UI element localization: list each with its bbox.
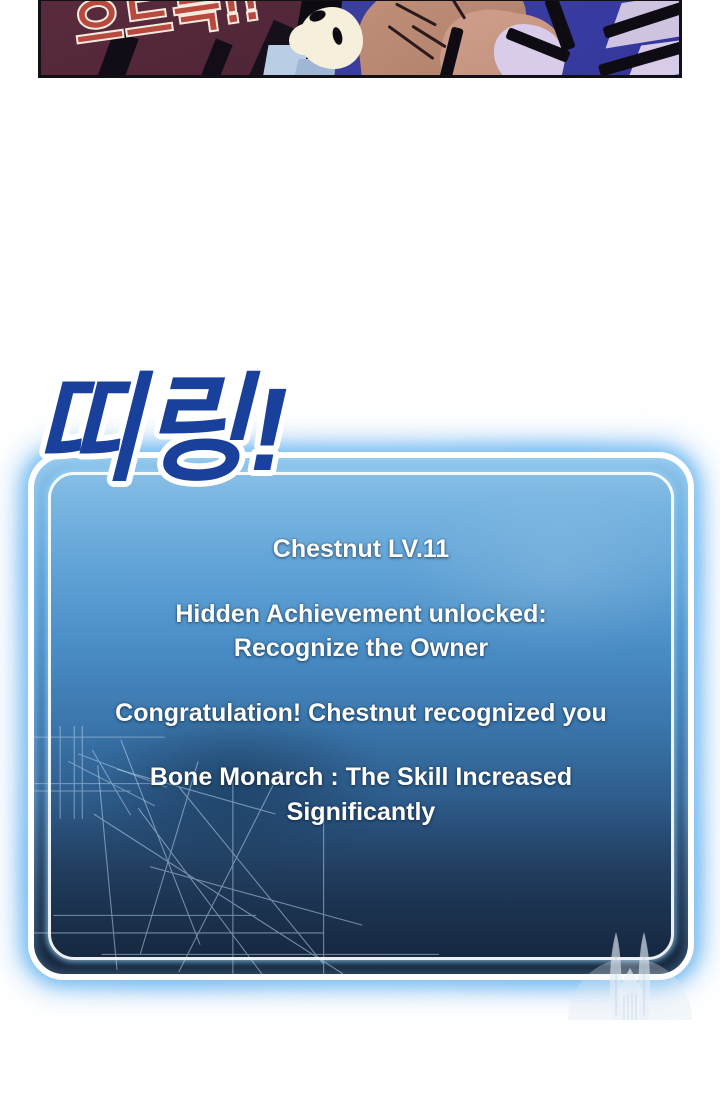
congratulation-line-block: Congratulation! Chestnut recognized you [60, 696, 662, 731]
sfx-ttiring: 띠링! [28, 330, 328, 510]
status-line-block: Chestnut LV.11 [60, 532, 662, 567]
skill-line-block: Bone Monarch : The Skill Increased Signi… [60, 760, 662, 829]
congratulation-line-1: Congratulation! Chestnut recognized you [60, 696, 662, 731]
comic-panel-artwork: 으드득!! [41, 1, 679, 75]
skill-line-2: Significantly [60, 795, 662, 830]
status-line-1: Chestnut LV.11 [60, 532, 662, 567]
achievement-line-block: Hidden Achievement unlocked: Recognize t… [60, 597, 662, 666]
panel-frame: Chestnut LV.11 Hidden Achievement unlock… [28, 452, 694, 980]
sfx-ttiring-text: 띠링! [32, 364, 288, 496]
system-notification-panel: Chestnut LV.11 Hidden Achievement unlock… [22, 446, 700, 986]
rabbit-head-logo-watermark [560, 920, 700, 1020]
skill-line-1: Bone Monarch : The Skill Increased [60, 760, 662, 795]
achievement-line-2: Recognize the Owner [60, 631, 662, 666]
comic-panel: 으드득!! [38, 0, 682, 78]
notification-text: Chestnut LV.11 Hidden Achievement unlock… [34, 532, 688, 829]
achievement-line-1: Hidden Achievement unlocked: [60, 597, 662, 632]
